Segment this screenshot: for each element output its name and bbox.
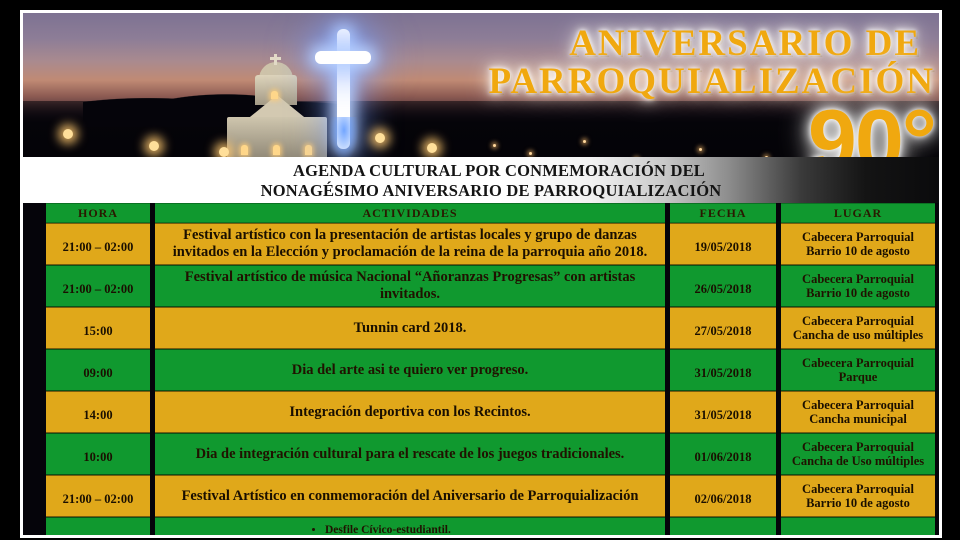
city-light-dot [843, 142, 846, 145]
lugar-line-2: Cancha de Uso múltiples [785, 454, 931, 469]
cell-lugar: Cabecera Parroquial [781, 517, 935, 535]
lugar-line-2: Barrio 10 de agosto [785, 286, 931, 301]
actividad-bullet-item: Desfile Cívico-estudiantil. [325, 520, 661, 535]
lugar-line-1: Cabecera Parroquial [785, 440, 931, 455]
column-header-hora: HORA [46, 203, 150, 223]
cell-hora: 14:00 [46, 391, 150, 433]
lugar-line-1: Cabecera Parroquial [785, 272, 931, 287]
agenda-table-head: HORA ACTIVIDADES FECHA LUGAR [46, 203, 935, 223]
lugar-line-1: Cabecera Parroquial [785, 314, 931, 329]
cross-blue-glow [329, 117, 359, 161]
cell-lugar: Cabecera ParroquialBarrio 10 de agosto [781, 223, 935, 265]
cell-fecha: 01/06/2018 [670, 433, 776, 475]
lugar-line-2: Barrio 10 de agosto [785, 496, 931, 511]
table-row: 21:00 – 02:00Festival artístico con la p… [46, 223, 935, 265]
table-row: 10:00Desfile Cívico-estudiantil.Sesión C… [46, 517, 935, 535]
table-row: 21:00 – 02:00Festival Artístico en conme… [46, 475, 935, 517]
cell-fecha: 02/06/2018 [670, 475, 776, 517]
church-window-icon [305, 145, 312, 155]
cell-fecha: 26/05/2018 [670, 265, 776, 307]
cell-actividad: Festival Artístico en conmemoración del … [155, 475, 665, 517]
cell-actividad: Festival artístico con la presentación d… [155, 223, 665, 265]
cell-lugar: Cabecera ParroquialCancha de uso múltipl… [781, 307, 935, 349]
lugar-line-1: Cabecera Parroquial [785, 398, 931, 413]
streetlight-icon [149, 141, 159, 151]
table-row: 10:00Dia de integración cultural para el… [46, 433, 935, 475]
agenda-table: HORA ACTIVIDADES FECHA LUGAR 21:00 – 02:… [41, 203, 939, 535]
city-light-dot [891, 152, 894, 155]
lugar-line-2: Cancha de uso múltiples [785, 328, 931, 343]
cell-lugar: Cabecera ParroquialParque [781, 349, 935, 391]
table-row: 21:00 – 02:00Festival artístico de músic… [46, 265, 935, 307]
agenda-title-band: AGENDA CULTURAL POR CONMEMORACIÓN DEL NO… [23, 157, 939, 203]
streetlight-icon [375, 133, 385, 143]
cell-lugar: Cabecera ParroquialCancha municipal [781, 391, 935, 433]
agenda-title-line-2: NONAGÉSIMO ANIVERSARIO DE PARROQUIALIZAC… [23, 181, 939, 201]
cell-lugar: Cabecera ParroquialBarrio 10 de agosto [781, 475, 935, 517]
cell-hora: 10:00 [46, 433, 150, 475]
church-belfry-window-icon [271, 91, 278, 99]
church-window-icon [273, 145, 280, 155]
column-header-fecha: FECHA [670, 203, 776, 223]
column-header-lugar: LUGAR [781, 203, 935, 223]
cell-hora: 15:00 [46, 307, 150, 349]
cell-fecha: 27/05/2018 [670, 307, 776, 349]
cross-horizontal-bar [315, 51, 371, 64]
cell-actividad: Dia del arte asi te quiero ver progreso. [155, 349, 665, 391]
cell-fecha: 03/06/2018 [670, 517, 776, 535]
table-row: 09:00Dia del arte asi te quiero ver prog… [46, 349, 935, 391]
table-row: 15:00Tunnin card 2018.27/05/2018Cabecera… [46, 307, 935, 349]
cell-hora: 21:00 – 02:00 [46, 475, 150, 517]
cell-hora: 21:00 – 02:00 [46, 223, 150, 265]
streetlight-icon [63, 129, 73, 139]
city-light-dot [529, 152, 532, 155]
cell-hora: 21:00 – 02:00 [46, 265, 150, 307]
cell-hora: 10:00 [46, 517, 150, 535]
city-light-dot [583, 140, 586, 143]
agenda-title-line-1: AGENDA CULTURAL POR CONMEMORACIÓN DEL [23, 157, 939, 181]
city-light-dot [699, 148, 702, 151]
city-light-dot [493, 144, 496, 147]
table-header-row: HORA ACTIVIDADES FECHA LUGAR [46, 203, 935, 223]
lugar-line-1: Cabecera Parroquial [785, 230, 931, 245]
cell-fecha: 31/05/2018 [670, 391, 776, 433]
agenda-table-wrapper: HORA ACTIVIDADES FECHA LUGAR 21:00 – 02:… [41, 203, 925, 535]
streetlight-icon [427, 143, 437, 153]
agenda-table-body: 21:00 – 02:00Festival artístico con la p… [46, 223, 935, 535]
actividad-bullet-list: Desfile Cívico-estudiantil.Sesión Conmem… [311, 520, 661, 535]
lugar-line-2: Barrio 10 de agosto [785, 244, 931, 259]
table-row: 14:00Integración deportiva con los Recin… [46, 391, 935, 433]
cell-actividad: Desfile Cívico-estudiantil.Sesión Conmem… [155, 517, 665, 535]
church-cross-icon [274, 54, 277, 65]
illuminated-cross-icon [315, 29, 371, 149]
lugar-line-1: Cabecera Parroquial [785, 356, 931, 371]
cell-fecha: 31/05/2018 [670, 349, 776, 391]
cell-lugar: Cabecera ParroquialCancha de Uso múltipl… [781, 433, 935, 475]
lugar-line-2: Parque [785, 370, 931, 385]
lugar-line-2: Cancha municipal [785, 412, 931, 427]
church-window-icon [241, 145, 248, 155]
cell-actividad: Dia de integración cultural para el resc… [155, 433, 665, 475]
poster-frame: ANIVERSARIO DE PARROQUIALIZACIÓN 90° AGE… [20, 10, 942, 538]
lugar-line-1: Cabecera Parroquial [785, 482, 931, 497]
cell-actividad: Integración deportiva con los Recintos. [155, 391, 665, 433]
poster-inner: ANIVERSARIO DE PARROQUIALIZACIÓN 90° AGE… [23, 13, 939, 535]
poster-root: ANIVERSARIO DE PARROQUIALIZACIÓN 90° AGE… [0, 0, 960, 540]
streetlight-icon [219, 147, 229, 157]
cell-lugar: Cabecera ParroquialBarrio 10 de agosto [781, 265, 935, 307]
cell-actividad: Tunnin card 2018. [155, 307, 665, 349]
cell-fecha: 19/05/2018 [670, 223, 776, 265]
cell-hora: 09:00 [46, 349, 150, 391]
column-header-actividades: ACTIVIDADES [155, 203, 665, 223]
cell-actividad: Festival artístico de música Nacional “A… [155, 265, 665, 307]
actividad-bullets: Desfile Cívico-estudiantil.Sesión Conmem… [159, 520, 661, 535]
banner-photo [23, 13, 939, 173]
